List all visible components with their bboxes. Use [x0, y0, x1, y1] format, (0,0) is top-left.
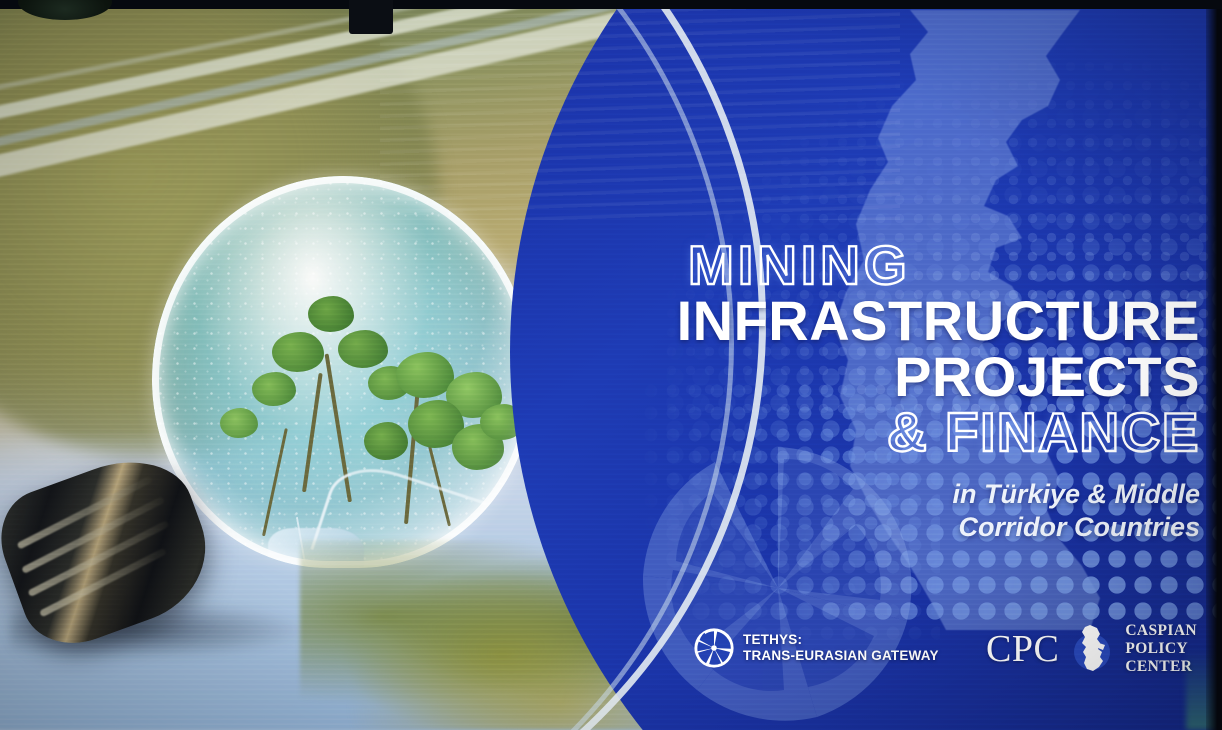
tethys-line-1: TETHYS: — [743, 632, 939, 648]
pinwheel-circle-icon — [694, 628, 734, 668]
bulb-glass-globe — [152, 176, 534, 568]
cpc-line-3: CENTER — [1125, 658, 1197, 676]
cpc-line-1: CASPIAN — [1125, 622, 1197, 640]
title-line-projects: PROJECTS — [600, 349, 1200, 405]
cpc-logo: CPC CASPIAN POLICY CENTER — [986, 622, 1197, 676]
tethys-line-2: TRANS-EURASIAN GATEWAY — [743, 648, 939, 664]
cpc-wordmark: CPC — [986, 630, 1059, 668]
subtitle-line-2: Corridor Countries — [700, 511, 1200, 544]
logo-row: TETHYS: TRANS-EURASIAN GATEWAY CPC CASPI… — [690, 620, 1200, 690]
cpc-name: CASPIAN POLICY CENTER — [1125, 622, 1197, 676]
title-line-finance: & FINANCE — [600, 405, 1200, 460]
slide-photo-of-screen: MINING INFRASTRUCTURE PROJECTS & FINANCE… — [0, 0, 1222, 730]
tethys-logo: TETHYS: TRANS-EURASIAN GATEWAY — [694, 628, 939, 668]
caspian-sea-silhouette-icon — [1070, 623, 1114, 675]
title-line-mining: MINING — [688, 238, 1200, 293]
cpc-line-2: POLICY — [1125, 640, 1197, 658]
page-title: MINING INFRASTRUCTURE PROJECTS & FINANCE — [600, 238, 1200, 460]
subtitle-line-1: in Türkiye & Middle — [700, 478, 1200, 511]
slide-subtitle: in Türkiye & Middle Corridor Countries — [700, 478, 1200, 544]
tethys-wordmark: TETHYS: TRANS-EURASIAN GATEWAY — [743, 632, 939, 664]
bulb-glass-rim — [152, 176, 534, 568]
title-line-infrastructure: INFRASTRUCTURE — [600, 293, 1200, 349]
